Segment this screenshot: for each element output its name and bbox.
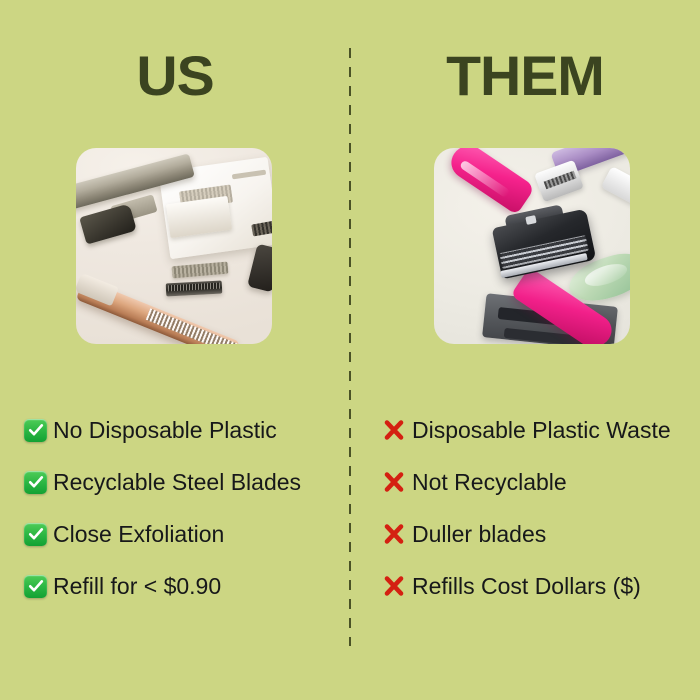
them-column-title: THEM — [347, 48, 700, 104]
us-column-title: US — [0, 48, 354, 104]
list-item-label: Recyclable Steel Blades — [53, 469, 301, 495]
list-item: Refill for < $0.90 — [24, 560, 344, 612]
loose-steel-blade-graphic — [172, 262, 229, 279]
comparison-infographic: US THEM — [0, 0, 700, 700]
us-photo-surface — [76, 148, 272, 344]
list-item-label: Not Recyclable — [412, 469, 567, 495]
check-mark-button-icon — [24, 523, 47, 546]
them-product-photo — [434, 148, 630, 344]
us-product-photo — [76, 148, 272, 344]
list-item-label: Disposable Plastic Waste — [412, 417, 671, 443]
check-mark-button-icon — [24, 419, 47, 442]
them-photo-surface — [434, 148, 630, 344]
list-item-label: Refill for < $0.90 — [53, 573, 221, 599]
list-item: Not Recyclable — [382, 456, 682, 508]
cross-mark-icon — [382, 470, 406, 494]
list-item-label: No Disposable Plastic — [53, 417, 277, 443]
us-benefits-list: No Disposable Plastic Recyclable Steel B… — [24, 404, 344, 612]
check-mark-button-icon — [24, 471, 47, 494]
column-divider — [349, 48, 351, 646]
list-item-label: Close Exfoliation — [53, 521, 224, 547]
list-item: Refills Cost Dollars ($) — [382, 560, 682, 612]
cross-mark-icon — [382, 522, 406, 546]
dark-accessory-graphic — [247, 244, 272, 293]
list-item: Duller blades — [382, 508, 682, 560]
check-mark-button-icon — [24, 575, 47, 598]
list-item: No Disposable Plastic — [24, 404, 344, 456]
white-razor-graphic — [601, 166, 630, 206]
list-item: Disposable Plastic Waste — [382, 404, 682, 456]
gunmetal-razor-head-graphic — [79, 203, 137, 244]
list-item-label: Duller blades — [412, 521, 546, 547]
cross-mark-icon — [382, 418, 406, 442]
them-drawbacks-list: Disposable Plastic Waste Not Recyclable … — [382, 404, 682, 612]
cross-mark-icon — [382, 574, 406, 598]
list-item: Close Exfoliation — [24, 508, 344, 560]
list-item-label: Refills Cost Dollars ($) — [412, 573, 641, 599]
list-item: Recyclable Steel Blades — [24, 456, 344, 508]
